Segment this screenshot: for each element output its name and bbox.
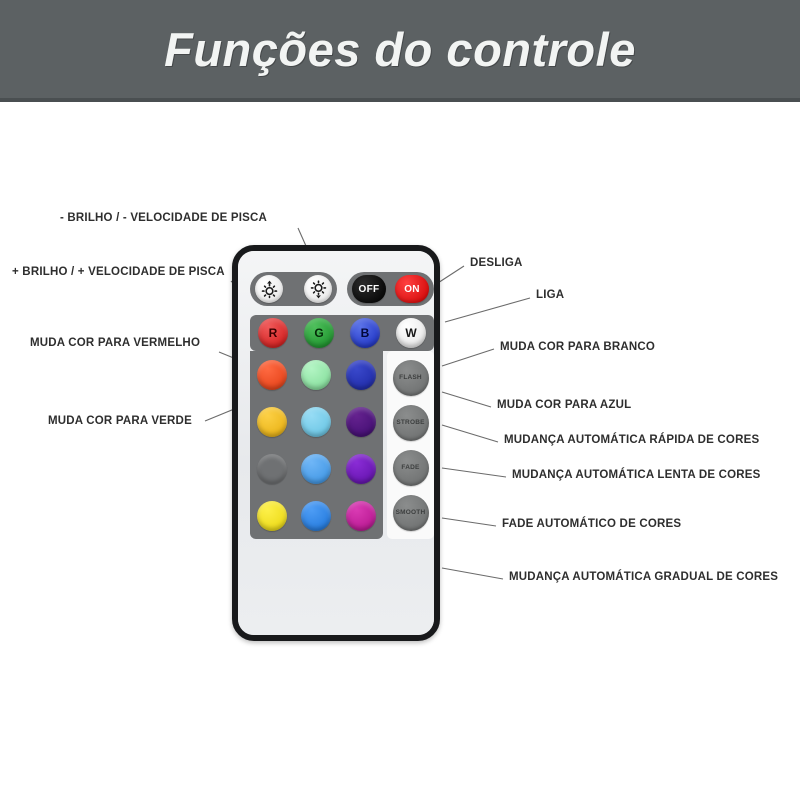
callout-mode-flash: MUDANÇA AUTOMÁTICA RÁPIDA DE CORES bbox=[504, 435, 759, 447]
color-swatch[interactable] bbox=[301, 360, 331, 390]
color-grid bbox=[250, 351, 383, 539]
mode-strip: FLASH STROBE FADE SMOOTH bbox=[387, 351, 434, 539]
leader-color-white bbox=[442, 349, 494, 366]
brightness-down-button[interactable] bbox=[304, 275, 332, 303]
remote-face: OFF ON R G B W bbox=[238, 251, 434, 635]
callout-power-on: LIGA bbox=[536, 290, 564, 302]
callout-color-red: MUDA COR PARA VERMELHO bbox=[30, 338, 200, 350]
color-swatch[interactable] bbox=[257, 360, 287, 390]
color-swatch[interactable] bbox=[346, 454, 376, 484]
leader-mode-smooth bbox=[442, 568, 503, 579]
color-green-button[interactable]: G bbox=[304, 318, 334, 348]
color-swatch[interactable] bbox=[346, 360, 376, 390]
remote-top-row: OFF ON bbox=[250, 272, 434, 306]
color-swatch[interactable] bbox=[346, 501, 376, 531]
color-white-button[interactable]: W bbox=[396, 318, 426, 348]
rgbw-row: R G B W bbox=[250, 315, 434, 351]
leader-color-blue bbox=[442, 392, 491, 407]
mode-fade-button[interactable]: FADE bbox=[393, 450, 429, 486]
sun-down-icon bbox=[309, 280, 328, 299]
remote-control: OFF ON R G B W bbox=[232, 245, 440, 641]
color-blue-button[interactable]: B bbox=[350, 318, 380, 348]
header-banner: Funções do controle bbox=[0, 0, 800, 102]
leader-mode-flash bbox=[442, 425, 498, 442]
color-grid-panel bbox=[250, 351, 383, 539]
color-swatch[interactable] bbox=[257, 501, 287, 531]
page-title: Funções do controle bbox=[164, 22, 636, 77]
callout-color-green: MUDA COR PARA VERDE bbox=[48, 416, 192, 428]
callout-power-off: DESLIGA bbox=[470, 258, 523, 270]
callout-mode-smooth: MUDANÇA AUTOMÁTICA GRADUAL DE CORES bbox=[509, 572, 778, 584]
color-swatch[interactable] bbox=[301, 501, 331, 531]
mode-strobe-button[interactable]: STROBE bbox=[393, 405, 429, 441]
leader-mode-strobe bbox=[442, 468, 506, 477]
power-pill: OFF ON bbox=[347, 272, 434, 306]
sun-up-icon bbox=[260, 280, 279, 299]
color-red-button[interactable]: R bbox=[258, 318, 288, 348]
callout-brightness-down: - BRILHO / - VELOCIDADE DE PISCA bbox=[60, 213, 267, 225]
leader-power-on bbox=[445, 298, 530, 322]
callout-mode-fade: FADE AUTOMÁTICO DE CORES bbox=[502, 519, 681, 531]
brightness-pill bbox=[250, 272, 337, 306]
color-swatch[interactable] bbox=[301, 454, 331, 484]
power-off-button[interactable]: OFF bbox=[352, 275, 386, 303]
color-swatch[interactable] bbox=[301, 407, 331, 437]
callout-mode-strobe: MUDANÇA AUTOMÁTICA LENTA DE CORES bbox=[512, 470, 761, 482]
color-swatch[interactable] bbox=[257, 454, 287, 484]
callout-brightness-up: + BRILHO / + VELOCIDADE DE PISCA bbox=[12, 267, 225, 279]
power-on-button[interactable]: ON bbox=[395, 275, 429, 303]
callout-color-white: MUDA COR PARA BRANCO bbox=[500, 342, 655, 354]
mode-flash-button[interactable]: FLASH bbox=[393, 360, 429, 396]
page-root: Funções do controle - BRILHO / - VELOCID… bbox=[0, 0, 800, 800]
color-swatch[interactable] bbox=[257, 407, 287, 437]
brightness-up-button[interactable] bbox=[255, 275, 283, 303]
callout-color-blue: MUDA COR PARA AZUL bbox=[497, 400, 631, 412]
color-swatch[interactable] bbox=[346, 407, 376, 437]
leader-mode-fade bbox=[442, 518, 496, 526]
mode-smooth-button[interactable]: SMOOTH bbox=[393, 495, 429, 531]
